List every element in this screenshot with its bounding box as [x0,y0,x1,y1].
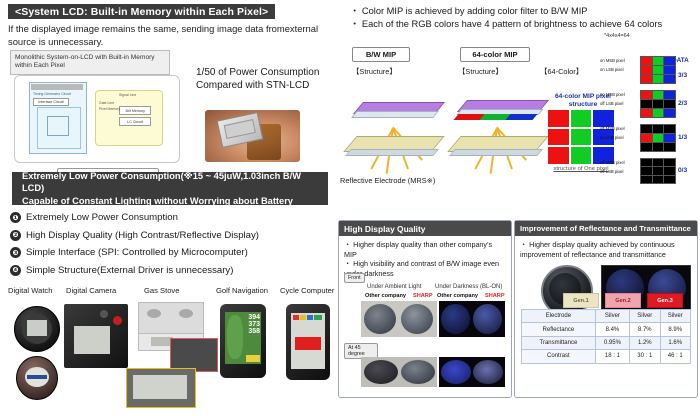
watch-dial-other [364,360,398,384]
watch-dial-sharp [473,360,503,384]
pixel-grid [47,116,69,136]
golf-distance: 394373358 [248,314,260,335]
pixel-cell-green [571,110,592,127]
cell-gen3: 46 : 1 [660,350,690,363]
device-digital-camera: Digital Camera [66,286,116,295]
bullet-number: ❹ [10,265,21,276]
stove-display-zoom [126,368,196,408]
bw-mip-chip: B/W MIP [352,47,410,62]
watch-dial-other [441,360,471,384]
cell-gen2: Silver [630,310,660,323]
table-row: Reflectance 8.4% 8.7% 8.9% [522,323,691,336]
panel-bullets: ・ Higher display quality than other comp… [344,240,506,278]
gen-1-badge: Gen.1 [563,293,599,308]
watch-graph [27,375,47,379]
substrate-layer [449,149,543,156]
burner [147,309,161,318]
bw-mip-structure-illustration [348,78,456,168]
lsb-label: on LSB pixel [600,135,624,140]
table-row: Electrode Silver Silver Silver [522,310,691,323]
gen-3-label: Gen.3 [657,298,673,304]
mip-bullet-2: ・ Each of the RGB colors have 4 pattern … [350,18,690,31]
monolithic-caption: Monolithic System-on-LCD with Built-in M… [10,50,170,75]
color-mip-structure-illustration [452,78,560,168]
other-company-label: Other company [365,293,406,299]
watch-dial-other [441,304,470,334]
msb-label: off MSB pixel [600,126,625,131]
cell-gen2: 30 : 1 [630,350,660,363]
sharp-label: SHARP [413,293,433,299]
ambient-angle-photo [361,357,437,387]
other-company-label: Other company [437,293,478,299]
brightness-fraction: 3/3 [678,72,687,79]
bullet-number: ❷ [10,230,21,241]
color64-label: 【64-Color】 [540,66,583,77]
gen-3-badge: Gen.3 [647,293,683,308]
cell-gen2: 8.7% [630,323,660,336]
table-row: Contrast 18 : 1 30 : 1 46 : 1 [522,350,691,363]
watch-dial-sharp [473,304,502,334]
gate-line-label: Gate Line [99,101,114,105]
hq-bullet-2: ・ High visibility and contrast of B/W im… [344,259,506,278]
pattern-grid [640,124,676,152]
pixel-cell-red [548,147,569,164]
camera-lcd [74,326,110,354]
list-item: ❹ Simple Structure(External Driver is un… [10,265,340,276]
feature-label: High Display Quality (High Contrast/Refl… [26,230,259,241]
burner [179,309,193,318]
watch-screen [27,320,47,336]
structure-label-bw: 【Structure】 [352,66,397,77]
cycle-device-photo [286,304,330,380]
device-label: Digital Watch [8,286,52,295]
list-item: ❷ High Display Quality (High Contrast/Re… [10,230,340,241]
camera-dial [100,310,108,318]
power-consumption-text: 1/50 of Power Consumption Compared with … [196,66,324,92]
device-digital-watch: Digital Watch [8,286,52,295]
darkness-angle-photo [439,357,505,387]
improvement-panel: Improvement of Reflectance and Transmitt… [514,220,698,398]
pattern-grid [640,158,676,184]
watch-dial-sharp [401,304,433,334]
page-title: <System LCD: Built-in Memory within Each… [8,4,275,19]
pixel-memory-label: Pixel Memory [99,107,120,111]
feature-label: Extremely Low Power Consumption [26,212,178,223]
mip-bullet-1: ・ Color MIP is achieved by adding color … [350,5,690,18]
watch-dial-other [364,304,396,334]
glass-layer [351,111,439,118]
cycle-color-bar [307,315,313,320]
low-power-banner: Extremely Low Power Consumption(※15 ~ 45… [12,172,328,205]
pattern-grid [640,90,676,118]
signal-line-label: Signal Line [119,93,136,97]
msb-label: on MSB pixel [600,58,625,63]
front-view-tag: Front [344,273,365,283]
pixel-cell-green [571,147,592,164]
ambient-light-header: Under Ambient Light [367,284,421,290]
darkness-header: Under Darkness (BL-ON) [435,284,502,290]
banner-line-1: Extremely Low Power Consumption(※15 ~ 45… [22,170,318,195]
structure-label-color: 【Structure】 [458,66,503,77]
cell-gen3: 1.6% [660,336,690,349]
golf-screen: 394373358 [225,312,261,364]
pixel-cell-red [548,129,569,146]
cycle-color-bar [300,315,306,320]
banner-line-2: Capable of Constant Lighting without Wor… [22,195,318,208]
monolithic-body: Timing Generator Circuit Interface Circu… [14,75,180,163]
high-display-quality-panel: High Display Quality ・ Higher display qu… [338,220,512,398]
device-golf-navigation: Golf Navigation [216,286,268,295]
device-cycle-computer: Cycle Computer [280,286,334,295]
device-gas-stove: Gas Stove [144,286,179,295]
panel-title: Improvement of Reflectance and Transmitt… [515,221,697,236]
pixel-cell-red [548,110,569,127]
cell-gen2: 1.2% [630,336,660,349]
pattern-grid [640,56,676,84]
feature-label: Simple Interface (SPI: Controlled by Mic… [26,247,248,258]
watch-photo-bottom [16,356,58,400]
panel-bullet: ・ Higher display quality achieved by con… [520,240,692,259]
cell-gen3: Silver [660,310,690,323]
cell-gen1: Silver [595,310,629,323]
pixel-cell-blue [593,110,614,127]
cell-gen1: 0.95% [595,336,629,349]
table-row: Transmittance 0.95% 1.2% 1.6% [522,336,691,349]
stove-top-photo [138,302,204,334]
cell-gen1: 8.4% [595,323,629,336]
substrate-layer [345,149,439,156]
hq-bullet-1: ・ Higher display quality than other comp… [344,240,506,259]
device-gallery: Digital Watch Digital Camera Gas Stove G… [4,286,336,414]
row-label: Reflectance [522,323,596,336]
feature-list: ❶ Extremely Low Power Consumption ❷ High… [10,212,340,282]
cycle-color-bar [293,315,299,320]
golf-course-map [227,315,243,359]
msb-label: on MSB pixel [600,92,625,97]
device-label: Golf Navigation [216,286,268,295]
cycle-screen [291,313,325,369]
panel-title: High Display Quality [339,221,511,236]
cell-gen1: 18 : 1 [595,350,629,363]
color-mip-chip: 64-color MIP [460,47,530,62]
row-label: Contrast [522,350,596,363]
cycle-highlight [295,337,321,350]
mip-bullets: ・ Color MIP is achieved by adding color … [350,5,690,30]
gen-1-label: Gen.1 [573,298,589,304]
driver-strip [31,84,83,90]
lsb-label: on LSB pixel [600,67,624,72]
golf-device-photo: 394373358 [220,304,266,378]
brightness-fraction: 0/3 [678,167,687,174]
mip-note: *4x4x4=64 [604,33,630,39]
feature-label: Simple Structure(External Driver is unne… [26,265,233,276]
darkness-front-photo [439,301,505,337]
golf-badge [246,355,260,362]
page-subtitle: If the displayed image remains the same,… [8,23,338,48]
row-label: Transmittance [522,336,596,349]
list-item: ❶ Extremely Low Power Consumption [10,212,340,223]
cell-gen3: 8.9% [660,323,690,336]
camera-photo [64,304,128,368]
bullet-number: ❶ [10,212,21,223]
monolithic-diagram: Monolithic System-on-LCD with Built-in M… [10,50,182,162]
lc-circuit-box: LC Circuit [119,117,151,126]
lcd-module-photo [205,110,300,162]
watch-photo-top [14,306,60,352]
list-item: ❸ Simple Interface (SPI: Controlled by M… [10,247,340,258]
device-label: Gas Stove [144,286,179,295]
measurements-table: Electrode Silver Silver Silver Reflectan… [521,309,691,364]
lsb-label: off LSB pixel [600,101,623,106]
reflective-electrode-caption: Reflective Electrode (MRS※) [340,176,435,185]
device-label: Digital Camera [66,286,116,295]
watch-dial-sharp [401,360,435,384]
row-label: Electrode [522,310,596,323]
device-label: Cycle Computer [280,286,334,295]
brightness-fraction: 1/3 [678,134,687,141]
ambient-front-photo [361,301,437,337]
stove-zoom-box [170,338,218,372]
brightness-fraction: 2/3 [678,100,687,107]
timing-generator-label: Timing Generator Circuit [33,92,71,96]
gen-2-badge: Gen.2 [605,293,641,308]
pixel-cell-green [571,129,592,146]
msb-label: off MSB pixel [600,160,625,165]
sharp-label: SHARP [485,293,505,299]
bit-memory-box: 1bit Memory [119,106,151,115]
interface-circuit-label: Interface Circuit [33,98,69,106]
stove-display-detail [133,375,187,399]
blue-filter [505,114,537,120]
camera-shutter-button [113,316,122,325]
lsb-label: off LSB pixel [600,169,623,174]
gen-2-label: Gen.2 [615,298,631,304]
cycle-color-bar [314,315,322,320]
bullet-number: ❸ [10,247,21,258]
